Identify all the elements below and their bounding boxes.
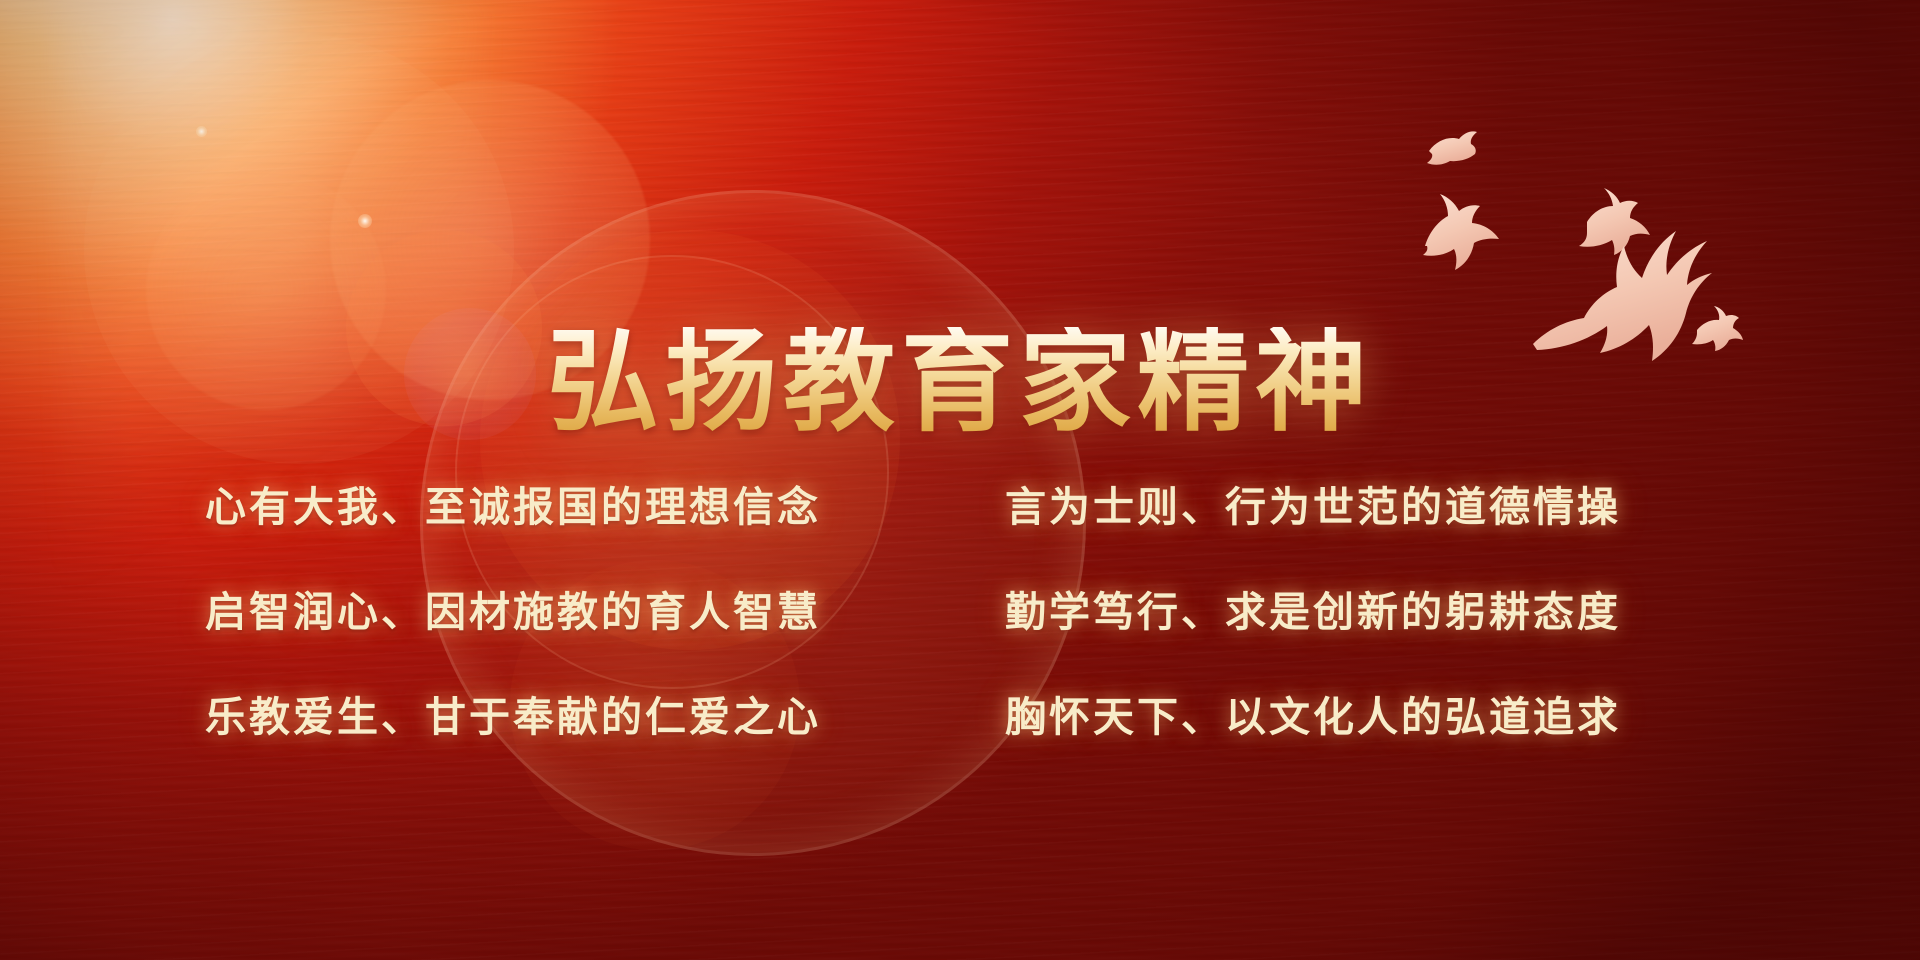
slogan-row-2-left: 启智润心、因材施教的育人智慧 — [205, 578, 1005, 638]
slogan-row-3-right: 胸怀天下、以文化人的弘道追求 — [1005, 683, 1725, 743]
slogan-row-3-left: 乐教爱生、甘于奉献的仁爱之心 — [205, 683, 1005, 743]
slogan-grid: 心有大我、至诚报国的理想信念 言为士则、行为世范的道德情操 启智润心、因材施教的… — [205, 450, 1725, 765]
page-title: 弘扬教育家精神 — [537, 327, 1383, 451]
banner-canvas: 弘扬教育家精神 心有大我、至诚报国的理想信念 言为士则、行为世范的道德情操 启智… — [0, 0, 1920, 960]
slogan-row-1-left: 心有大我、至诚报国的理想信念 — [205, 473, 1005, 533]
slogan-row-2-right: 勤学笃行、求是创新的躬耕态度 — [1005, 578, 1725, 638]
slogan-row-1-right: 言为士则、行为世范的道德情操 — [1005, 473, 1725, 533]
